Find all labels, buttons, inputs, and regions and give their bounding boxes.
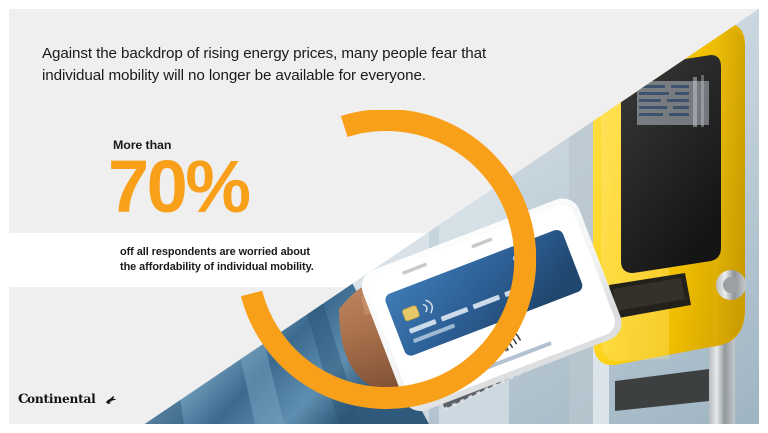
svg-text:ontinental: ontinental [27, 392, 96, 406]
infographic-canvas: Clrsk [0, 0, 768, 433]
page-headline: Against the backdrop of rising energy pr… [42, 43, 562, 86]
continental-horse-logo: C ontinental [18, 390, 124, 408]
continental-logo: C ontinental [18, 390, 124, 408]
stat-caption: off all respondents are worried about th… [120, 245, 420, 276]
stat-value: 70% [108, 152, 249, 222]
